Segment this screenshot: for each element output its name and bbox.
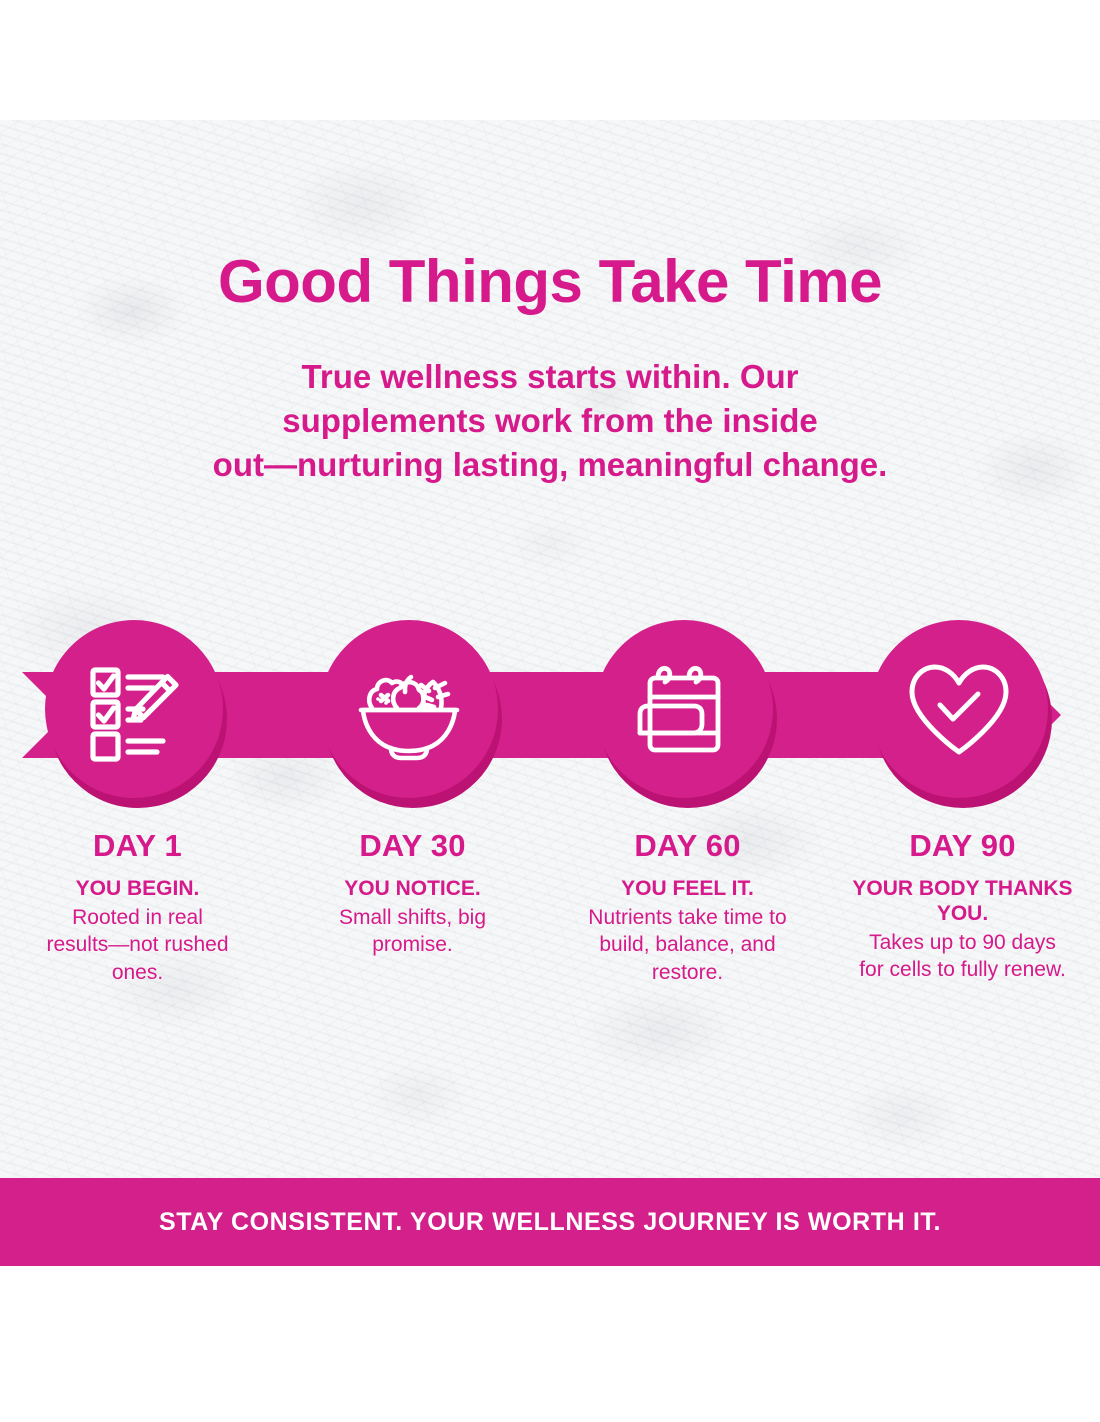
- step-day-label: DAY 60: [634, 830, 740, 861]
- step-headline: YOUR BODY THANKS YOU.: [825, 877, 1100, 927]
- step-headline: YOU BEGIN.: [76, 877, 200, 902]
- salad-bowl-icon: [320, 620, 498, 798]
- calendar-flip-icon: [595, 620, 773, 798]
- step-badge-4: [870, 620, 1056, 806]
- step-headline: YOU FEEL IT.: [621, 877, 754, 902]
- banner-text: STAY CONSISTENT. YOUR WELLNESS JOURNEY I…: [159, 1208, 941, 1237]
- heart-check-icon: [870, 620, 1048, 798]
- step-description: Rooted in real results—not rushed ones.: [43, 904, 233, 987]
- step-headline: YOU NOTICE.: [344, 877, 481, 902]
- subtitle-line-2: supplements work from the inside: [282, 402, 817, 439]
- subtitle-line-3: out—nurturing lasting, meaningful change…: [213, 446, 888, 483]
- page-subtitle: True wellness starts within. Our supplem…: [90, 355, 1010, 487]
- infographic-canvas: Good Things Take Time True wellness star…: [0, 0, 1100, 1422]
- subtitle-line-1: True wellness starts within. Our: [302, 358, 799, 395]
- checklist-pencil-icon: [45, 620, 223, 798]
- bottom-banner: STAY CONSISTENT. YOUR WELLNESS JOURNEY I…: [0, 1178, 1100, 1266]
- step-badge-1: [45, 620, 231, 806]
- step-day-label: DAY 30: [359, 830, 465, 861]
- step-day-label: DAY 1: [93, 830, 182, 861]
- timeline-step-day-1: DAY 1 YOU BEGIN. Rooted in real results—…: [0, 620, 275, 1040]
- page-title: Good Things Take Time: [0, 252, 1100, 312]
- step-description: Small shifts, big promise.: [313, 904, 513, 959]
- step-badge-2: [320, 620, 506, 806]
- timeline-step-day-90: DAY 90 YOUR BODY THANKS YOU. Takes up to…: [825, 620, 1100, 1040]
- timeline-step-day-60: DAY 60 YOU FEEL IT. Nutrients take time …: [550, 620, 825, 1040]
- timeline-steps: DAY 1 YOU BEGIN. Rooted in real results—…: [0, 620, 1100, 1040]
- step-day-label: DAY 90: [909, 830, 1015, 861]
- step-badge-3: [595, 620, 781, 806]
- step-description: Takes up to 90 days for cells to fully r…: [858, 929, 1068, 984]
- step-description: Nutrients take time to build, balance, a…: [588, 904, 788, 987]
- timeline-step-day-30: DAY 30 YOU NOTICE. Small shifts, big pro…: [275, 620, 550, 1040]
